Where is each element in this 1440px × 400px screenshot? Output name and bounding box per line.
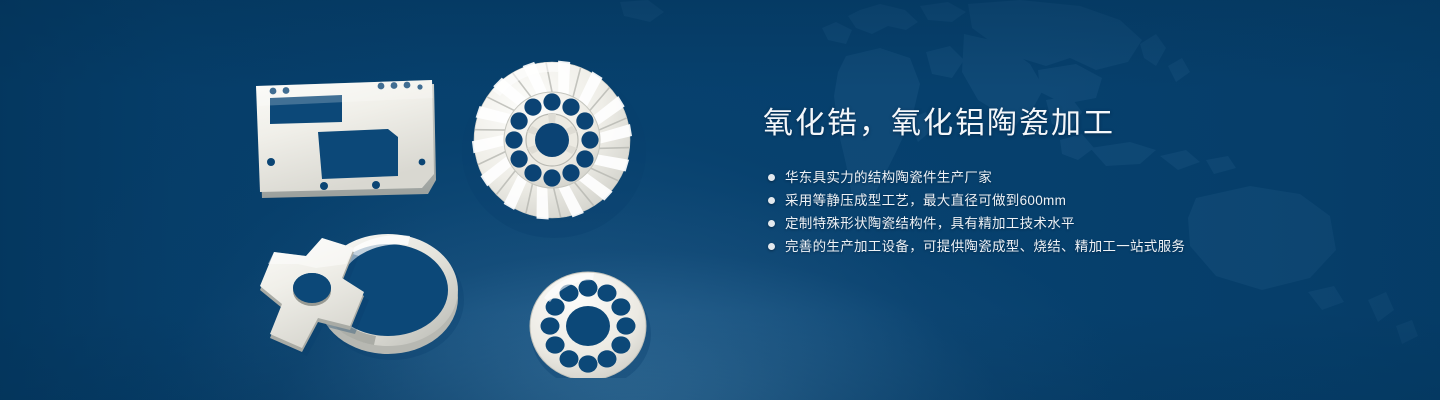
bullet-dot-icon bbox=[768, 174, 775, 181]
feature-text: 完善的生产加工设备，可提供陶瓷成型、烧结、精加工一站式服务 bbox=[785, 235, 1185, 258]
bullet-dot-icon bbox=[768, 243, 775, 250]
banner-headline: 氧化锆，氧化铝陶瓷加工 bbox=[763, 104, 1383, 144]
feature-list-item: 采用等静压成型工艺，最大直径可做到600mm bbox=[763, 189, 1383, 212]
feature-list: 华东具实力的结构陶瓷件生产厂家 采用等静压成型工艺，最大直径可做到600mm 定… bbox=[763, 166, 1383, 258]
product-ceramic-perforated-disc bbox=[530, 272, 651, 378]
promo-banner: 氧化锆，氧化铝陶瓷加工 华东具实力的结构陶瓷件生产厂家 采用等静压成型工艺，最大… bbox=[0, 0, 1440, 400]
product-ceramic-mounting-plate bbox=[256, 80, 436, 198]
feature-list-item: 定制特殊形状陶瓷结构件，具有精加工技术水平 bbox=[763, 212, 1383, 235]
feature-text: 采用等静压成型工艺，最大直径可做到600mm bbox=[785, 189, 1066, 212]
feature-text: 华东具实力的结构陶瓷件生产厂家 bbox=[785, 166, 992, 189]
banner-copy: 氧化锆，氧化铝陶瓷加工 华东具实力的结构陶瓷件生产厂家 采用等静压成型工艺，最大… bbox=[763, 104, 1383, 258]
bullet-dot-icon bbox=[768, 220, 775, 227]
product-ceramic-impeller-disc bbox=[462, 59, 646, 238]
product-photo-group bbox=[236, 38, 696, 378]
bullet-dot-icon bbox=[768, 197, 775, 204]
feature-text: 定制特殊形状陶瓷结构件，具有精加工技术水平 bbox=[785, 212, 1075, 235]
feature-list-item: 完善的生产加工设备，可提供陶瓷成型、烧结、精加工一站式服务 bbox=[763, 235, 1383, 258]
feature-list-item: 华东具实力的结构陶瓷件生产厂家 bbox=[763, 166, 1383, 189]
